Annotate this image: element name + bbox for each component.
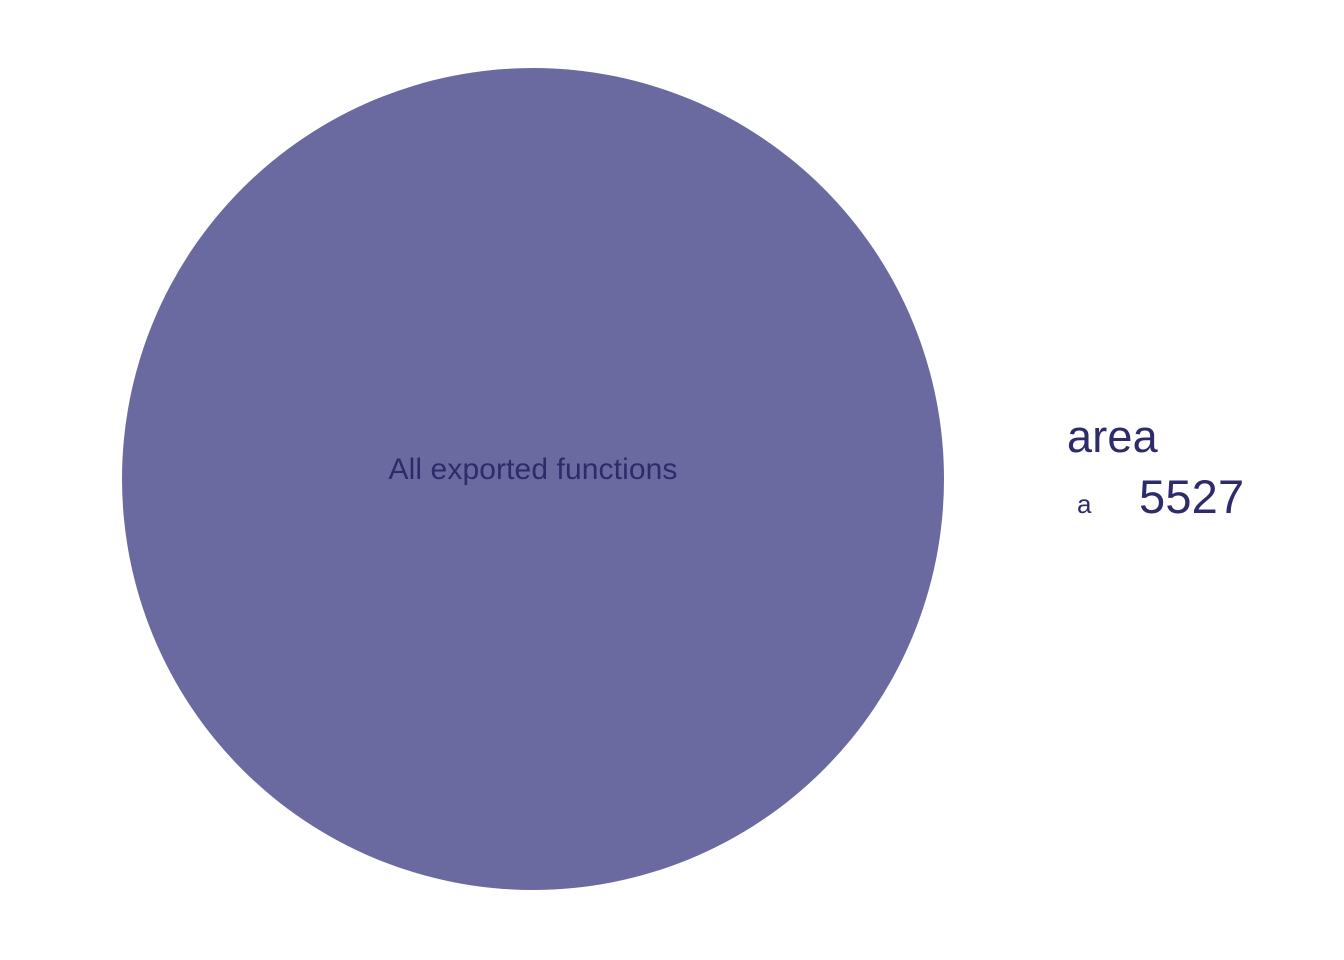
legend-row: a 5527 [1063,473,1333,520]
legend-key-a: a [1077,491,1139,517]
venn-diagram-canvas: All exported functions area a 5527 [0,0,1344,960]
legend-value-a: 5527 [1139,473,1244,520]
venn-region-label: All exported functions [122,455,944,485]
legend-title: area [1067,414,1333,459]
legend: area a 5527 [1063,414,1333,520]
